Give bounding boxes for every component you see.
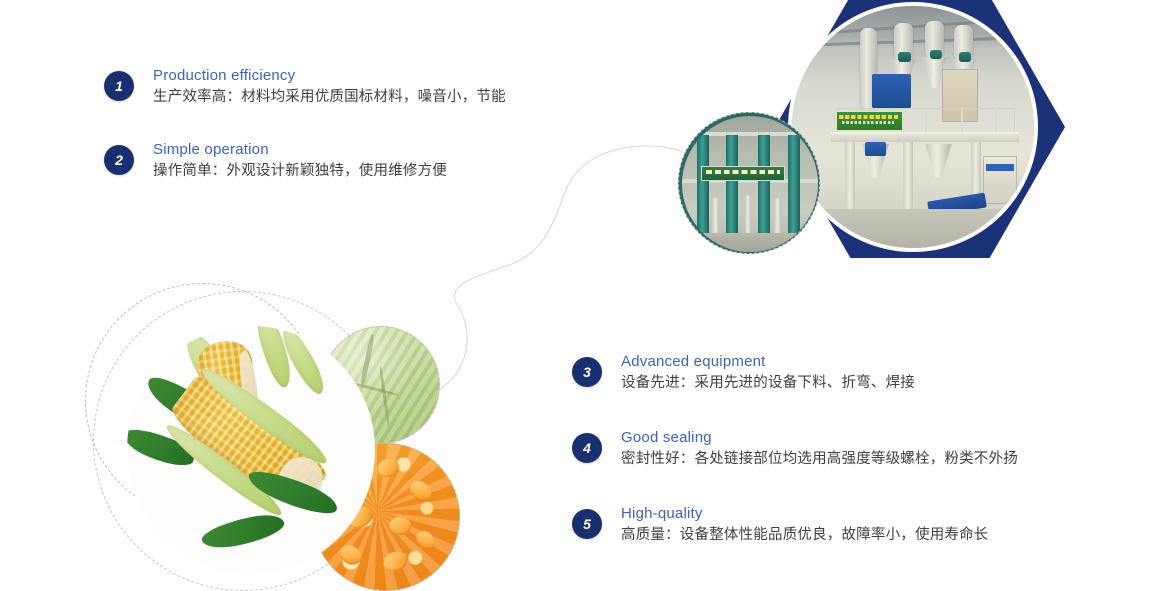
feature-item-2[interactable]: 2 Simple operation 操作简单：外观设计新颖独特，使用维修方便 [104, 140, 574, 183]
feature-title: Good sealing [621, 428, 1092, 448]
feature-item-3[interactable]: 3 Advanced equipment 设备先进：采用先进的设备下料、折弯、焊… [572, 352, 1092, 395]
feature-infographic-page: 1 Production efficiency 生产效率高：材料均采用优质国标材… [0, 0, 1154, 591]
teal-machine-photo [678, 112, 820, 254]
feature-description: 密封性好：各处链接部位均选用高强度等级螺栓，粉类不外扬 [621, 448, 1092, 471]
feature-item-4[interactable]: 4 Good sealing 密封性好：各处链接部位均选用高强度等级螺栓，粉类不… [572, 428, 1092, 471]
control-cabinet [983, 156, 1017, 204]
feature-description: 高质量：设备整体性能品质优良，故障率小，使用寿命长 [621, 524, 1092, 547]
bottom-image-cluster [85, 283, 485, 591]
motor-unit [930, 50, 942, 60]
blue-hopper [872, 74, 911, 108]
company-banner [836, 111, 904, 130]
milling-plant-scene [792, 6, 1034, 248]
downpipe [745, 195, 752, 239]
corn-cob-scene [127, 326, 375, 574]
teal-column [788, 135, 800, 236]
railing-post [925, 108, 927, 132]
dough-crack [379, 366, 391, 426]
feature-list-right: 3 Advanced equipment 设备先进：采用先进的设备下料、折弯、焊… [572, 352, 1092, 571]
factory-floor [792, 209, 1034, 248]
grit-kernel [375, 456, 400, 478]
lower-cone [925, 144, 952, 178]
teal-machine-scene [682, 116, 818, 252]
feature-item-5[interactable]: 5 High-quality 高质量：设备整体性能品质优良，故障率小，使用寿命长 [572, 504, 1092, 547]
lower-blue-hopper [865, 142, 887, 157]
motor-unit [959, 52, 971, 62]
railing-post [961, 108, 963, 132]
feature-description: 操作简单：外观设计新颖独特，使用维修方便 [153, 160, 574, 183]
teal-column [726, 135, 738, 236]
teal-machine-photo-inner [682, 116, 818, 252]
corn-cob-photo [127, 326, 375, 574]
grit-kernel [413, 527, 439, 553]
grit-kernel [406, 477, 435, 505]
feature-description: 生产效率高：材料均采用优质国标材料，噪音小，节能 [153, 86, 574, 109]
feature-number-badge: 3 [572, 357, 602, 387]
feature-item-1[interactable]: 1 Production efficiency 生产效率高：材料均采用优质国标材… [104, 66, 574, 109]
feature-title: High-quality [621, 504, 1092, 524]
teal-column [758, 135, 770, 236]
feature-list-left: 1 Production efficiency 生产效率高：材料均采用优质国标材… [104, 66, 574, 207]
banner-text-texture [706, 170, 780, 173]
feature-number-badge: 2 [104, 145, 134, 175]
teal-scene-floor [682, 233, 818, 252]
teal-column [697, 135, 709, 236]
banner-headline-texture [839, 115, 899, 119]
motor-unit [898, 52, 910, 62]
feature-description: 设备先进：采用先进的设备下料、折弯、焊接 [621, 372, 1092, 395]
grit-kernel [388, 515, 412, 536]
banner-subline-texture [842, 121, 895, 124]
feature-number-badge: 1 [104, 71, 134, 101]
teal-machine-banner [701, 166, 785, 181]
top-image-cluster [660, 0, 1154, 284]
corn-leaf [200, 511, 288, 553]
railing-post [995, 108, 997, 132]
grit-kernel [381, 549, 410, 575]
cabinet-panel-strip [986, 164, 1014, 170]
milling-plant-photo [788, 2, 1038, 252]
work-platform [831, 132, 1020, 142]
feature-title: Advanced equipment [621, 352, 1092, 372]
feature-number-badge: 5 [572, 509, 602, 539]
feature-title: Production efficiency [153, 66, 574, 86]
feature-number-badge: 4 [572, 433, 602, 463]
feature-title: Simple operation [153, 140, 574, 160]
